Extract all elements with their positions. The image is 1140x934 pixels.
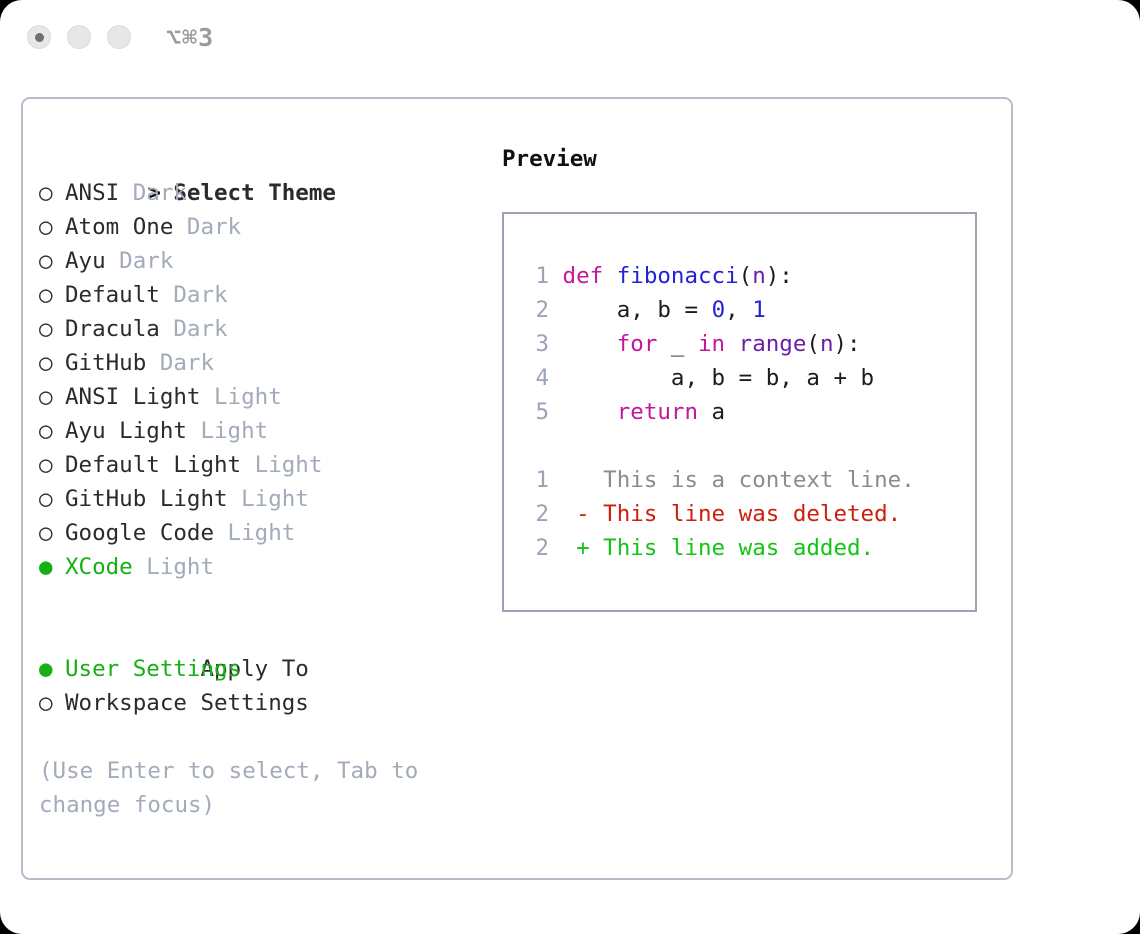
theme-picker-column: > Select Theme ○ ANSI Dark○ Atom One Dar…	[39, 142, 489, 822]
window-dot-2[interactable]	[67, 25, 91, 49]
theme-item-11[interactable]: ● XCode Light	[39, 550, 489, 584]
line-number: 3	[523, 327, 549, 361]
code-line-text: return a	[549, 399, 725, 425]
theme-item-7[interactable]: ○ Ayu Light Light	[39, 414, 489, 448]
radio-selected-icon: ●	[39, 550, 65, 584]
theme-item-2[interactable]: ○ Ayu Dark	[39, 244, 489, 278]
code-line-text: def fibonacci(n):	[549, 263, 793, 289]
code-line-4: 4 a, b = b, a + b	[523, 361, 969, 395]
theme-item-variant: Dark	[146, 350, 214, 376]
line-number: 1	[523, 259, 549, 293]
apply-to-item-label: User Settings	[65, 656, 241, 682]
apply-to-section: Apply To ● User Settings○ Workspace Sett…	[39, 618, 489, 720]
theme-item-variant: Dark	[160, 282, 228, 308]
diff-line-number: 2	[523, 497, 549, 531]
token-plain	[563, 399, 617, 425]
diff-line-text-del: - This line was deleted.	[549, 501, 901, 527]
theme-item-10[interactable]: ○ Google Code Light	[39, 516, 489, 550]
theme-item-9[interactable]: ○ GitHub Light Light	[39, 482, 489, 516]
token-kw: in	[698, 331, 725, 357]
theme-item-variant: Light	[241, 452, 322, 478]
diff-line-text-ctx: This is a context line.	[549, 467, 915, 493]
code-line-2: 2 a, b = 0, 1	[523, 293, 969, 327]
theme-item-label: Google Code	[65, 520, 214, 546]
keyboard-shortcut-label: ⌥⌘3	[166, 22, 214, 54]
theme-item-variant: Light	[200, 384, 281, 410]
preview-code-area: 1 def fibonacci(n):2 a, b = 0, 13 for _ …	[523, 259, 969, 565]
token-plain: (	[739, 263, 753, 289]
radio-unselected-icon: ○	[39, 380, 65, 414]
active-dot-icon	[35, 33, 44, 42]
line-number: 5	[523, 395, 549, 429]
token-plain: ):	[833, 331, 860, 357]
code-line-3: 3 for _ in range(n):	[523, 327, 969, 361]
token-plain: a	[698, 399, 725, 425]
code-diff-spacer	[523, 429, 969, 463]
theme-item-3[interactable]: ○ Default Dark	[39, 278, 489, 312]
radio-unselected-icon: ○	[39, 244, 65, 278]
radio-unselected-icon: ○	[39, 312, 65, 346]
theme-item-label: Atom One	[65, 214, 173, 240]
theme-item-6[interactable]: ○ ANSI Light Light	[39, 380, 489, 414]
diff-line-2: 2 - This line was deleted.	[523, 497, 969, 531]
preview-column: Preview 1 def fibonacci(n):2 a, b = 0, 1…	[502, 142, 992, 612]
theme-item-label: ANSI	[65, 180, 119, 206]
token-plain: a, b = b, a + b	[563, 365, 875, 391]
theme-item-label: Default	[65, 282, 160, 308]
code-line-text: a, b = b, a + b	[549, 365, 874, 391]
theme-item-label: Default Light	[65, 452, 241, 478]
preview-box: 1 def fibonacci(n):2 a, b = 0, 13 for _ …	[502, 212, 977, 612]
radio-unselected-icon: ○	[39, 448, 65, 482]
token-plain	[563, 331, 617, 357]
token-var: n	[752, 263, 766, 289]
theme-item-label: Ayu Light	[65, 418, 187, 444]
token-kw: for	[617, 331, 658, 357]
theme-picker-header-label: Select Theme	[173, 180, 336, 206]
token-kw: def	[563, 263, 604, 289]
window-dot-active[interactable]	[27, 25, 51, 49]
radio-selected-icon: ●	[39, 652, 65, 686]
theme-item-variant: Dark	[119, 180, 187, 206]
token-plain	[603, 263, 617, 289]
theme-item-label: Dracula	[65, 316, 160, 342]
theme-item-5[interactable]: ○ GitHub Dark	[39, 346, 489, 380]
preview-title: Preview	[502, 142, 992, 176]
token-num: 0	[712, 297, 726, 323]
radio-unselected-icon: ○	[39, 278, 65, 312]
window-dot-3[interactable]	[107, 25, 131, 49]
hint-text: (Use Enter to select, Tab to change focu…	[39, 754, 459, 822]
radio-unselected-icon: ○	[39, 346, 65, 380]
apply-to-item-label: Workspace Settings	[65, 690, 309, 716]
token-plain: a, b =	[563, 297, 712, 323]
radio-unselected-icon: ○	[39, 516, 65, 550]
token-var: n	[820, 331, 834, 357]
theme-item-1[interactable]: ○ Atom One Dark	[39, 210, 489, 244]
radio-unselected-icon: ○	[39, 414, 65, 448]
theme-item-variant: Light	[228, 486, 309, 512]
token-plain: ,	[725, 297, 752, 323]
diff-line-number: 2	[523, 531, 549, 565]
radio-unselected-icon: ○	[39, 686, 65, 720]
app-window: ⌥⌘3 > Select Theme ○ ANSI Dark○ Atom One…	[0, 0, 1140, 934]
token-plain: ):	[766, 263, 793, 289]
token-kw: return	[617, 399, 698, 425]
theme-item-variant: Dark	[106, 248, 174, 274]
theme-item-label: Ayu	[65, 248, 106, 274]
theme-item-variant: Dark	[160, 316, 228, 342]
diff-line-number: 1	[523, 463, 549, 497]
theme-item-label: ANSI Light	[65, 384, 200, 410]
apply-to-header: Apply To	[39, 618, 489, 652]
theme-item-variant: Light	[214, 520, 295, 546]
theme-item-label: XCode	[65, 554, 133, 580]
radio-unselected-icon: ○	[39, 210, 65, 244]
code-sample: 1 def fibonacci(n):2 a, b = 0, 13 for _ …	[523, 259, 969, 429]
code-line-1: 1 def fibonacci(n):	[523, 259, 969, 293]
radio-unselected-icon: ○	[39, 176, 65, 210]
code-line-5: 5 return a	[523, 395, 969, 429]
theme-item-4[interactable]: ○ Dracula Dark	[39, 312, 489, 346]
title-bar: ⌥⌘3	[0, 0, 1140, 78]
diff-line-text-add: + This line was added.	[549, 535, 874, 561]
theme-item-label: GitHub Light	[65, 486, 228, 512]
main-panel: > Select Theme ○ ANSI Dark○ Atom One Dar…	[21, 97, 1013, 880]
radio-unselected-icon: ○	[39, 482, 65, 516]
theme-item-8[interactable]: ○ Default Light Light	[39, 448, 489, 482]
theme-list: ○ ANSI Dark○ Atom One Dark○ Ayu Dark○ De…	[39, 176, 489, 584]
line-number: 2	[523, 293, 549, 327]
line-number: 4	[523, 361, 549, 395]
diff-line-3: 2 + This line was added.	[523, 531, 969, 565]
theme-item-variant: Light	[133, 554, 214, 580]
token-fn: fibonacci	[617, 263, 739, 289]
token-plain: _	[657, 331, 698, 357]
code-line-text: a, b = 0, 1	[549, 297, 766, 323]
theme-item-label: GitHub	[65, 350, 146, 376]
code-line-text: for _ in range(n):	[549, 331, 861, 357]
diff-line-1: 1 This is a context line.	[523, 463, 969, 497]
token-plain	[725, 331, 739, 357]
theme-item-variant: Light	[187, 418, 268, 444]
theme-picker-header: > Select Theme	[39, 142, 489, 176]
diff-sample: 1 This is a context line.2 - This line w…	[523, 463, 969, 565]
theme-item-variant: Dark	[173, 214, 241, 240]
token-plain: (	[806, 331, 820, 357]
token-num: 1	[752, 297, 766, 323]
token-var: range	[739, 331, 807, 357]
apply-to-item-1[interactable]: ○ Workspace Settings	[39, 686, 489, 720]
